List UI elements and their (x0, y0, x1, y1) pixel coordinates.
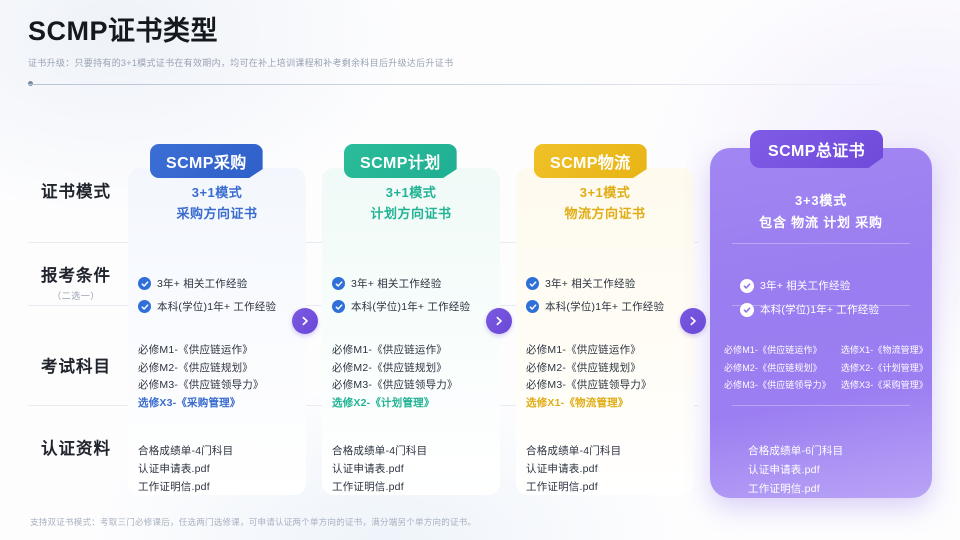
row-label-subjects-text: 考试科目 (41, 358, 111, 376)
requirement-text: 本科(学位)1年+ 工作经验 (545, 299, 664, 314)
requirement-item: 3年+ 相关工作经验 (526, 276, 694, 291)
column-logistics[interactable]: SCMP物流 3+1模式 物流方向证书 3年+ 相关工作经验 本科(学位)1年+… (516, 130, 694, 495)
column-planning-materials: 合格成绩单-4门科目 认证申请表.pdf 工作证明信.pdf (332, 442, 502, 496)
requirement-item: 3年+ 相关工作经验 (138, 276, 306, 291)
column-purchasing-materials: 合格成绩单-4门科目 认证申请表.pdf 工作证明信.pdf (138, 442, 308, 496)
master-subjects-required: 必修M1-《供应链运作》 必修M2-《供应链规划》 必修M3-《供应链领导力》 (724, 342, 835, 395)
material-item: 合格成绩单-6门科目 (748, 442, 928, 461)
mode-line-2: 采购方向证书 (128, 203, 306, 224)
column-master-mode: 3+3模式 包含 物流 计划 采购 (710, 190, 932, 234)
requirement-text: 3年+ 相关工作经验 (760, 278, 850, 293)
material-item: 认证申请表.pdf (526, 460, 696, 478)
requirement-text: 本科(学位)1年+ 工作经验 (760, 302, 879, 317)
row-label-mode: 证书模式 (20, 178, 132, 202)
subject-item: 必修M2-《供应链规划》 (138, 360, 308, 378)
column-master-requirements: 3年+ 相关工作经验 本科(学位)1年+ 工作经验 (740, 278, 930, 326)
requirement-text: 本科(学位)1年+ 工作经验 (157, 299, 276, 314)
subject-elective: 选修X1-《物流管理》 (841, 342, 932, 360)
column-planning-subjects: 必修M1-《供应链运作》 必修M2-《供应链规划》 必修M3-《供应链领导力》 … (332, 342, 502, 412)
subject-item: 必修M1-《供应链运作》 (138, 342, 308, 360)
material-item: 工作证明信.pdf (332, 478, 502, 496)
subject-elective: 选修X2-《计划管理》 (332, 395, 502, 413)
column-logistics-requirements: 3年+ 相关工作经验 本科(学位)1年+ 工作经验 (526, 276, 694, 322)
check-icon (526, 277, 539, 290)
column-purchasing-requirements: 3年+ 相关工作经验 本科(学位)1年+ 工作经验 (138, 276, 306, 322)
material-item: 工作证明信.pdf (748, 480, 928, 499)
requirement-item: 3年+ 相关工作经验 (740, 278, 930, 293)
infographic-page: SCMP证书类型 证书升级：只要持有的3+1模式证书在有效期内，均可在补上培训课… (0, 0, 960, 540)
requirement-item: 本科(学位)1年+ 工作经验 (138, 299, 306, 314)
footer-note: 支持双证书模式：考取三门必修课后，任选两门选修课，可申请认证两个单方向的证书，满… (30, 516, 476, 528)
material-item: 合格成绩单-4门科目 (526, 442, 696, 460)
header-divider (28, 84, 932, 85)
subject-item: 必修M1-《供应链运作》 (724, 342, 835, 360)
column-logistics-materials: 合格成绩单-4门科目 认证申请表.pdf 工作证明信.pdf (526, 442, 696, 496)
mode-line-1: 3+1模式 (516, 182, 694, 203)
subject-item: 必修M1-《供应链运作》 (526, 342, 696, 360)
requirement-text: 3年+ 相关工作经验 (545, 276, 635, 291)
check-icon (138, 277, 151, 290)
material-item: 合格成绩单-4门科目 (138, 442, 308, 460)
column-planning-requirements: 3年+ 相关工作经验 本科(学位)1年+ 工作经验 (332, 276, 500, 322)
requirement-item: 本科(学位)1年+ 工作经验 (332, 299, 500, 314)
header: SCMP证书类型 证书升级：只要持有的3+1模式证书在有效期内，均可在补上培训课… (28, 14, 928, 70)
column-logistics-mode: 3+1模式 物流方向证书 (516, 182, 694, 224)
requirement-item: 本科(学位)1年+ 工作经验 (526, 299, 694, 314)
subject-item: 必修M2-《供应链规划》 (332, 360, 502, 378)
mode-line-2: 包含 物流 计划 采购 (710, 212, 932, 234)
column-logistics-subjects: 必修M1-《供应链运作》 必修M2-《供应链规划》 必修M3-《供应链领导力》 … (526, 342, 696, 412)
subject-item: 必修M2-《供应链规划》 (724, 360, 835, 378)
row-label-requirements-sub: （二选一） (20, 289, 132, 302)
requirement-item: 本科(学位)1年+ 工作经验 (740, 302, 930, 317)
material-item: 认证申请表.pdf (138, 460, 308, 478)
row-label-mode-text: 证书模式 (41, 183, 111, 201)
subject-item: 必修M3-《供应链领导力》 (138, 377, 308, 395)
mode-line-1: 3+1模式 (322, 182, 500, 203)
check-icon (138, 300, 151, 313)
row-label-subjects: 考试科目 (20, 353, 132, 377)
mode-line-1: 3+1模式 (128, 182, 306, 203)
material-item: 工作证明信.pdf (526, 478, 696, 496)
check-icon (740, 303, 754, 317)
page-subtitle: 证书升级：只要持有的3+1模式证书在有效期内，均可在补上培训课程和补考剩余科目后… (28, 57, 928, 70)
requirement-text: 3年+ 相关工作经验 (351, 276, 441, 291)
check-icon (740, 279, 754, 293)
master-subjects-elective: 选修X1-《物流管理》 选修X2-《计划管理》 选修X3-《采购管理》 (841, 342, 932, 395)
requirement-text: 3年+ 相关工作经验 (157, 276, 247, 291)
subject-elective: 选修X1-《物流管理》 (526, 395, 696, 413)
requirement-item: 3年+ 相关工作经验 (332, 276, 500, 291)
column-master[interactable]: SCMP总证书 3+3模式 包含 物流 计划 采购 3年+ 相关工作经验 本科(… (710, 130, 932, 498)
check-icon (332, 277, 345, 290)
column-master-badge[interactable]: SCMP总证书 (750, 130, 883, 168)
row-label-materials: 认证资料 (20, 435, 132, 459)
subject-item: 必修M3-《供应链领导力》 (526, 377, 696, 395)
material-item: 认证申请表.pdf (748, 461, 928, 480)
requirement-text: 本科(学位)1年+ 工作经验 (351, 299, 470, 314)
subject-item: 必修M3-《供应链领导力》 (332, 377, 502, 395)
comparison-grid: 证书模式 报考条件 （二选一） 考试科目 认证资料 SCMP采购 3+1模式 采… (0, 100, 960, 500)
column-master-subjects: 必修M1-《供应链运作》 必修M2-《供应链规划》 必修M3-《供应链领导力》 … (724, 342, 932, 395)
material-item: 认证申请表.pdf (332, 460, 502, 478)
column-purchasing-subjects: 必修M1-《供应链运作》 必修M2-《供应链规划》 必修M3-《供应链领导力》 … (138, 342, 308, 412)
column-purchasing-mode: 3+1模式 采购方向证书 (128, 182, 306, 224)
master-divider-1 (732, 243, 910, 244)
material-item: 工作证明信.pdf (138, 478, 308, 496)
master-divider-3 (732, 405, 910, 406)
check-icon (526, 300, 539, 313)
column-master-materials: 合格成绩单-6门科目 认证申请表.pdf 工作证明信.pdf (748, 442, 928, 499)
chevron-right-icon (486, 308, 512, 334)
column-planning[interactable]: SCMP计划 3+1模式 计划方向证书 3年+ 相关工作经验 本科(学位)1年+… (322, 130, 500, 495)
mode-line-1: 3+3模式 (710, 190, 932, 212)
subject-item: 必修M2-《供应链规划》 (526, 360, 696, 378)
column-planning-badge[interactable]: SCMP计划 (344, 144, 457, 178)
chevron-right-icon (680, 308, 706, 334)
column-purchasing-badge[interactable]: SCMP采购 (150, 144, 263, 178)
chevron-right-icon (292, 308, 318, 334)
subject-item: 必修M3-《供应链领导力》 (724, 377, 835, 395)
mode-line-2: 计划方向证书 (322, 203, 500, 224)
check-icon (332, 300, 345, 313)
column-planning-mode: 3+1模式 计划方向证书 (322, 182, 500, 224)
row-label-column: 证书模式 报考条件 （二选一） 考试科目 认证资料 (20, 100, 132, 500)
page-title: SCMP证书类型 (28, 14, 928, 48)
subject-elective: 选修X3-《采购管理》 (841, 377, 932, 395)
row-label-materials-text: 认证资料 (41, 440, 111, 458)
row-label-requirements: 报考条件 （二选一） (20, 262, 132, 302)
row-label-requirements-text: 报考条件 (41, 267, 111, 285)
subject-item: 必修M1-《供应链运作》 (332, 342, 502, 360)
column-logistics-badge[interactable]: SCMP物流 (534, 144, 647, 178)
column-purchasing[interactable]: SCMP采购 3+1模式 采购方向证书 3年+ 相关工作经验 本科(学位)1年+… (128, 130, 306, 495)
subject-elective: 选修X3-《采购管理》 (138, 395, 308, 413)
mode-line-2: 物流方向证书 (516, 203, 694, 224)
material-item: 合格成绩单-4门科目 (332, 442, 502, 460)
subject-elective: 选修X2-《计划管理》 (841, 360, 932, 378)
